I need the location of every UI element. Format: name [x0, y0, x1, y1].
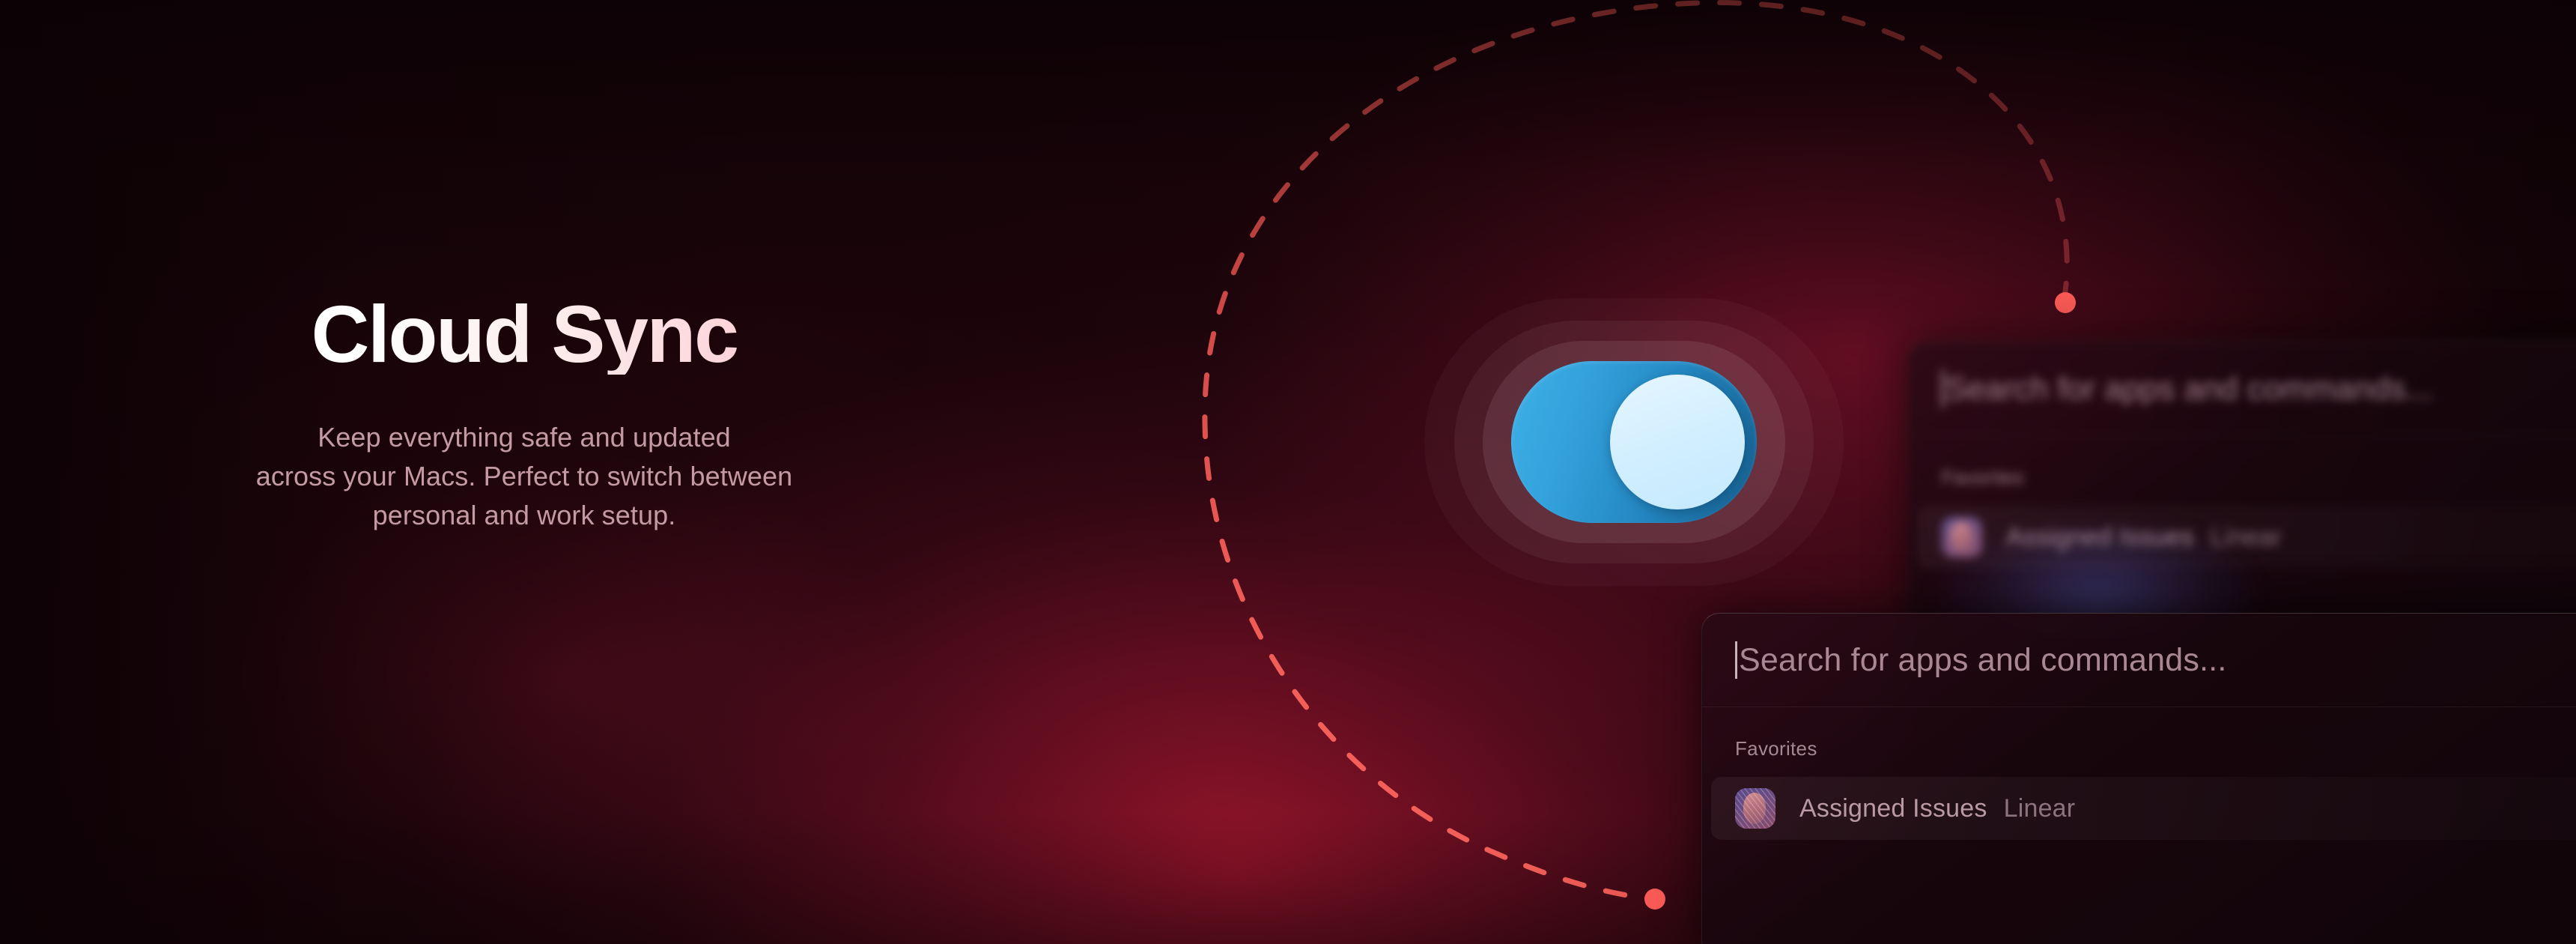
page-title: Cloud Sync	[0, 294, 1048, 375]
text-caret-back	[1942, 370, 1944, 408]
hero-subcopy: Keep everything safe and updated across …	[0, 418, 1048, 536]
linear-stripes	[1735, 788, 1775, 829]
promo-hero-canvas: Cloud Sync Keep everything safe and upda…	[0, 0, 2576, 944]
command-palette-front[interactable]: Search for apps and commands... Favorite…	[1701, 613, 2576, 944]
subcopy-line-2: across your Macs. Perfect to switch betw…	[0, 457, 1048, 496]
search-input-back[interactable]: Search for apps and commands...	[1945, 371, 2434, 408]
cloud-sync-toggle[interactable]	[1424, 298, 1844, 586]
list-item-assigned-issues[interactable]: Assigned Issues Linear	[1711, 777, 2576, 840]
result-subtitle: Linear	[2004, 794, 2076, 823]
result-title: Assigned Issues	[1799, 794, 1987, 823]
hero-copy-block: Cloud Sync Keep everything safe and upda…	[0, 294, 1048, 536]
subcopy-line-1: Keep everything safe and updated	[0, 418, 1048, 457]
search-row[interactable]: Search for apps and commands...	[1702, 614, 2576, 707]
result-subtitle-back: Linear	[2211, 523, 2282, 552]
section-label-favorites-back: Favorites	[1909, 436, 2576, 489]
search-input[interactable]: Search for apps and commands...	[1739, 642, 2227, 679]
text-caret	[1735, 641, 1737, 679]
toggle-knob[interactable]	[1610, 375, 1745, 509]
toggle-track[interactable]	[1511, 361, 1757, 523]
search-row-back[interactable]: Search for apps and commands...	[1909, 342, 2576, 436]
subcopy-line-3: personal and work setup.	[0, 496, 1048, 535]
section-label-favorites: Favorites	[1702, 707, 2576, 760]
linear-app-icon	[1735, 788, 1775, 829]
